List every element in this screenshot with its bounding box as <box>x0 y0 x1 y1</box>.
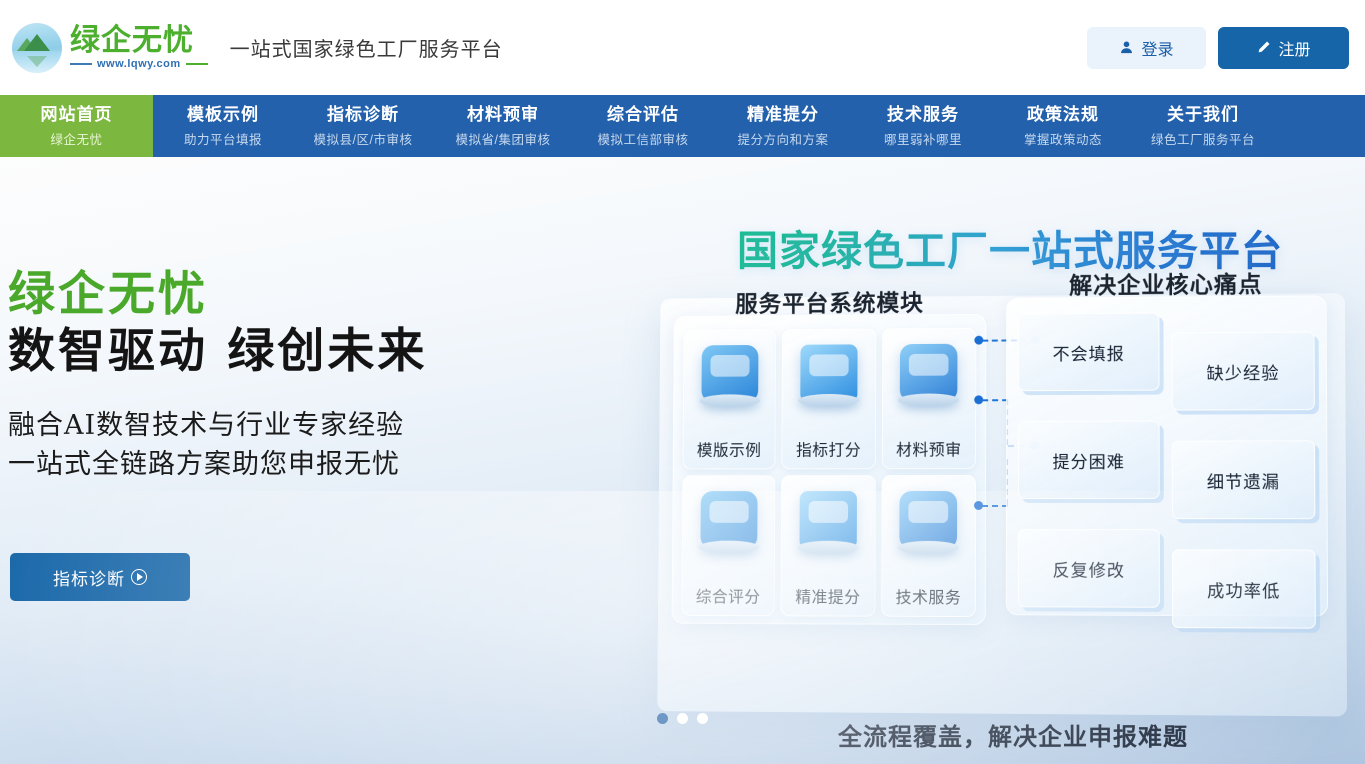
module-plinth <box>698 541 759 554</box>
header-tagline: 一站式国家绿色工厂服务平台 <box>230 33 503 62</box>
nav-item-1[interactable]: 模板示例助力平台填报 <box>153 95 293 157</box>
nav-item-8[interactable]: 关于我们绿色工厂服务平台 <box>1133 95 1273 157</box>
module-plinth <box>798 394 859 407</box>
nav-item-sub: 模拟工信部审核 <box>597 129 688 148</box>
hero-banner: 绿企无忧 数智驱动 绿创未来 融合AI数智技术与行业专家经验 一站式全链路方案助… <box>0 157 1365 764</box>
page-root: 绿企无忧 www.lqwy.com 一站式国家绿色工厂服务平台 登录 <box>0 0 1365 764</box>
hero-cta-label: 指标诊断 <box>53 565 125 590</box>
login-label: 登录 <box>1141 36 1173 60</box>
nav-item-3[interactable]: 材料预审模拟省/集团审核 <box>433 95 573 157</box>
nav-item-title: 综合评估 <box>607 104 679 125</box>
site-logo[interactable]: 绿企无忧 www.lqwy.com <box>12 23 208 73</box>
login-button[interactable]: 登录 <box>1087 27 1206 69</box>
nav-item-title: 精准提分 <box>747 104 819 125</box>
logo-name: 绿企无忧 <box>70 25 208 57</box>
module-label: 综合评分 <box>696 583 761 607</box>
module-card[interactable]: 技术服务 <box>881 475 976 617</box>
logo-url: www.lqwy.com <box>97 58 181 70</box>
pencil-icon <box>1256 40 1271 55</box>
hero-subline-1: 融合AI数智技术与行业专家经验 <box>8 406 548 445</box>
module-card[interactable]: 模版示例 <box>682 329 776 469</box>
mountain-circle-logo-icon <box>12 23 62 73</box>
pain-chip: 成功率低 <box>1172 549 1316 628</box>
pain-chip: 反复修改 <box>1018 529 1160 608</box>
module-card[interactable]: 精准提分 <box>781 475 876 617</box>
nav-item-4[interactable]: 综合评估模拟工信部审核 <box>573 95 713 157</box>
modules-grid: 模版示例指标打分材料预审综合评分精准提分技术服务 <box>681 328 976 617</box>
nav-item-title: 指标诊断 <box>327 104 399 125</box>
nav-item-sub: 绿企无忧 <box>50 129 102 148</box>
carousel-dots <box>0 713 1365 724</box>
module-plinth <box>699 394 760 407</box>
main-nav: 网站首页绿企无忧模板示例助力平台填报指标诊断模拟县/区/市审核材料预审模拟省/集… <box>0 95 1365 157</box>
play-circle-icon <box>131 569 147 585</box>
nav-item-sub: 助力平台填报 <box>184 129 262 148</box>
nav-item-0[interactable]: 网站首页绿企无忧 <box>0 95 153 157</box>
nav-item-7[interactable]: 政策法规掌握政策动态 <box>993 95 1133 157</box>
illustration-stage: 服务平台系统模块 模版示例指标打分材料预审综合评分精准提分技术服务 <box>657 293 1347 716</box>
nav-item-title: 模板示例 <box>187 104 259 125</box>
nav-item-5[interactable]: 精准提分提分方向和方案 <box>713 95 853 157</box>
nav-item-sub: 哪里弱补哪里 <box>884 129 962 148</box>
carousel-dot-2[interactable] <box>697 713 708 724</box>
module-plinth <box>898 541 960 554</box>
pain-chip: 不会填报 <box>1018 313 1159 392</box>
module-label: 模版示例 <box>697 437 762 461</box>
nav-item-sub: 模拟县/区/市审核 <box>314 129 413 148</box>
carousel-dot-1[interactable] <box>677 713 688 724</box>
header-actions: 登录 注册 <box>1087 27 1349 69</box>
logo-rule-left <box>70 63 92 65</box>
hero-headline-dark: 数智驱动 绿创未来 <box>8 323 548 380</box>
logo-rule-right <box>186 63 208 65</box>
nav-item-sub: 提分方向和方案 <box>737 129 828 148</box>
hero-cta-button[interactable]: 指标诊断 <box>10 553 190 601</box>
hero-illustration: 国家绿色工厂一站式服务平台 服务平台系统模块 模版示例指标打分材料预审综合评分精… <box>648 217 1348 737</box>
nav-item-2[interactable]: 指标诊断模拟县/区/市审核 <box>293 95 433 157</box>
nav-item-title: 网站首页 <box>41 104 113 125</box>
module-label: 材料预审 <box>896 436 962 460</box>
module-card[interactable]: 综合评分 <box>681 475 775 616</box>
hero-copy: 绿企无忧 数智驱动 绿创未来 融合AI数智技术与行业专家经验 一站式全链路方案助… <box>8 269 548 484</box>
pains-grid: 不会填报缺少经验提分困难细节遗漏反复修改成功率低 <box>1018 311 1316 628</box>
module-label: 精准提分 <box>795 583 860 607</box>
carousel-dot-0[interactable] <box>657 713 668 724</box>
register-label: 注册 <box>1278 36 1310 60</box>
module-card[interactable]: 材料预审 <box>881 328 976 469</box>
register-button[interactable]: 注册 <box>1218 27 1349 69</box>
nav-item-sub: 绿色工厂服务平台 <box>1151 129 1255 148</box>
nav-item-sub: 模拟省/集团审核 <box>456 129 551 148</box>
pain-chip: 细节遗漏 <box>1172 440 1316 519</box>
nav-item-6[interactable]: 技术服务哪里弱补哪里 <box>853 95 993 157</box>
nav-item-sub: 掌握政策动态 <box>1024 129 1102 148</box>
module-plinth <box>798 541 859 554</box>
module-plinth <box>898 393 960 406</box>
logo-text: 绿企无忧 www.lqwy.com <box>70 25 208 70</box>
modules-panel-title: 服务平台系统模块 <box>674 283 987 319</box>
pain-chip: 提分困难 <box>1018 421 1160 499</box>
hero-subline-2: 一站式全链路方案助您申报无忧 <box>8 445 548 484</box>
module-card[interactable]: 指标打分 <box>782 328 876 469</box>
nav-item-title: 材料预审 <box>467 104 539 125</box>
module-label: 技术服务 <box>896 584 962 608</box>
hero-headline-green: 绿企无忧 <box>8 269 548 321</box>
site-header: 绿企无忧 www.lqwy.com 一站式国家绿色工厂服务平台 登录 <box>0 0 1365 95</box>
pains-panel-title: 解决企业核心痛点 <box>1006 264 1326 301</box>
nav-item-title: 政策法规 <box>1027 104 1099 125</box>
nav-item-title: 技术服务 <box>887 104 959 125</box>
user-icon <box>1119 40 1134 55</box>
pain-chip: 缺少经验 <box>1172 332 1315 411</box>
module-label: 指标打分 <box>796 436 861 460</box>
logo-url-row: www.lqwy.com <box>70 58 208 70</box>
nav-item-title: 关于我们 <box>1167 104 1239 125</box>
pains-panel: 解决企业核心痛点 不会填报缺少经验提分困难细节遗漏反复修改成功率低 <box>1006 295 1328 616</box>
modules-panel: 服务平台系统模块 模版示例指标打分材料预审综合评分精准提分技术服务 <box>672 314 987 625</box>
